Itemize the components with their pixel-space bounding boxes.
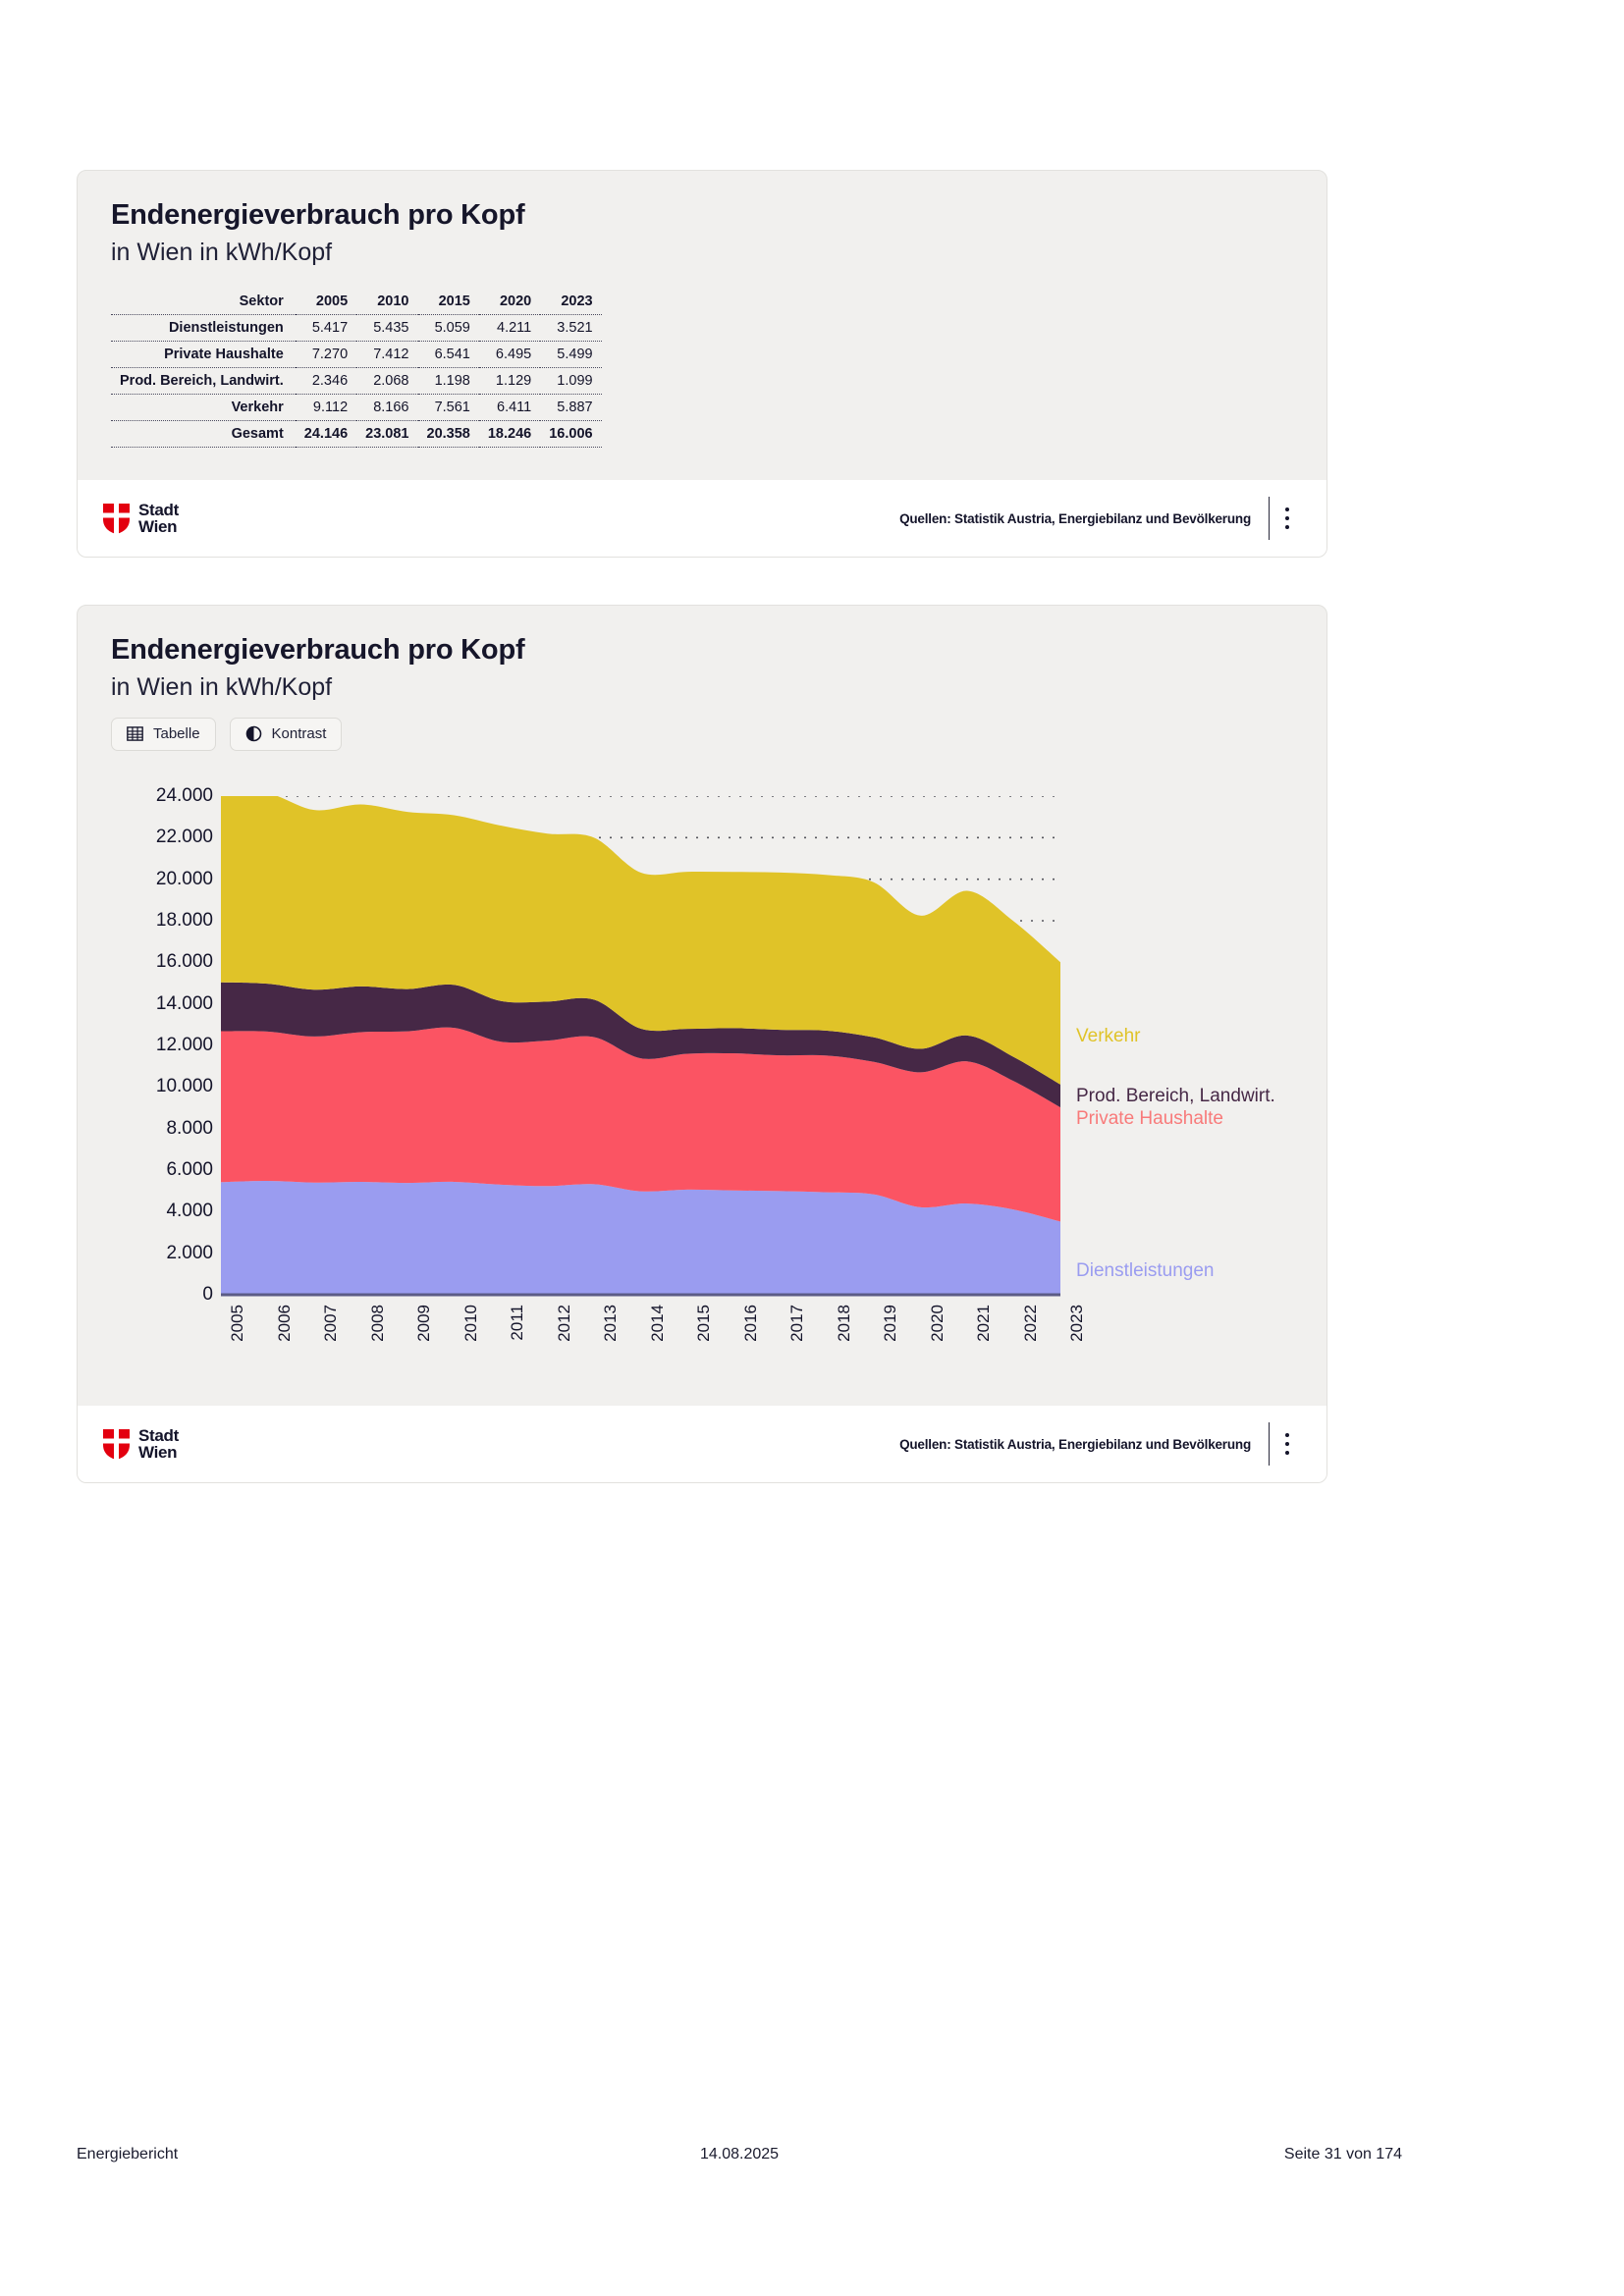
data-table-wrapper: Sektor 2005 2010 2015 2020 2023 Dienstle…: [111, 289, 1293, 448]
row-label-gesamt: Gesamt: [111, 420, 296, 447]
table-head: Sektor 2005 2010 2015 2020 2023: [111, 289, 602, 315]
kebab-dot: [1285, 525, 1289, 529]
tabelle-button-label: Tabelle: [153, 725, 200, 742]
x-axis-tick: 2011: [508, 1305, 527, 1341]
cell-private-haushalte-2010: 7.412: [356, 341, 417, 367]
stadt-wien-logo: Stadt Wien: [103, 1427, 179, 1461]
kebab-dot: [1285, 1433, 1289, 1437]
logo-line-wien: Wien: [138, 1444, 179, 1461]
x-axis-tick: 2008: [368, 1305, 388, 1342]
y-axis-tick: 14.000: [111, 993, 213, 1015]
stadt-wien-logo-text: Stadt Wien: [138, 502, 179, 535]
y-axis-tick: 6.000: [111, 1159, 213, 1181]
y-axis-tick: 22.000: [111, 827, 213, 848]
x-axis-tick: 2021: [974, 1305, 994, 1342]
y-axis-tick: 0: [111, 1284, 213, 1306]
x-axis-tick: 2019: [881, 1305, 900, 1342]
chart-card-title: Endenergieverbrauch pro Kopf: [111, 635, 1293, 665]
y-axis-labels: 02.0004.0006.0008.00010.00012.00014.0001…: [111, 796, 213, 1297]
stadt-wien-logo: Stadt Wien: [103, 502, 179, 535]
table-total-row: Gesamt 24.146 23.081 20.358 18.246 16.00…: [111, 420, 602, 447]
chart-controls: Tabelle Kontrast: [111, 718, 1293, 751]
more-options-icon[interactable]: [1270, 497, 1305, 540]
y-axis-tick: 18.000: [111, 910, 213, 932]
cell-prod-bereich-2023: 1.099: [540, 367, 601, 394]
x-axis-tick: 2018: [835, 1305, 854, 1342]
chart-card-subtitle: in Wien in kWh/Kopf: [111, 674, 1293, 702]
page-footer-pagenum: Seite 31 von 174: [965, 2146, 1403, 2163]
logo-line-wien: Wien: [138, 518, 179, 535]
legend-item-prod-bereich: Prod. Bereich, Landwirt.: [1076, 1086, 1275, 1107]
y-axis-tick: 24.000: [111, 785, 213, 807]
x-axis-tick: 2012: [555, 1305, 574, 1342]
y-axis-tick: 4.000: [111, 1201, 213, 1222]
chart-plot-area: [221, 796, 1060, 1297]
table-card: Endenergieverbrauch pro Kopf in Wien in …: [77, 170, 1327, 558]
y-axis-tick: 8.000: [111, 1118, 213, 1140]
chart-legend: Verkehr Prod. Bereich, Landwirt. Private…: [1068, 796, 1294, 1297]
cell-prod-bereich-2005: 2.346: [296, 367, 356, 394]
x-axis-tick: 2020: [928, 1305, 947, 1342]
table-row: Private Haushalte 7.270 7.412 6.541 6.49…: [111, 341, 602, 367]
y-axis-tick: 20.000: [111, 869, 213, 890]
table-row: Verkehr 9.112 8.166 7.561 6.411 5.887: [111, 394, 602, 420]
x-axis-tick: 2007: [321, 1305, 341, 1342]
table-row: Prod. Bereich, Landwirt. 2.346 2.068 1.1…: [111, 367, 602, 394]
cell-gesamt-2020: 18.246: [479, 420, 540, 447]
cell-dienstleistungen-2010: 5.435: [356, 314, 417, 341]
table-col-2005: 2005: [296, 289, 356, 315]
shield-icon: [103, 1429, 130, 1460]
cell-private-haushalte-2005: 7.270: [296, 341, 356, 367]
cell-prod-bereich-2020: 1.129: [479, 367, 540, 394]
kontrast-button[interactable]: Kontrast: [230, 718, 343, 751]
table-card-title: Endenergieverbrauch pro Kopf: [111, 200, 1293, 230]
table-col-2010: 2010: [356, 289, 417, 315]
x-axis-tick: 2014: [648, 1305, 668, 1342]
row-label-prod-bereich: Prod. Bereich, Landwirt.: [111, 367, 296, 394]
table-col-2020: 2020: [479, 289, 540, 315]
page: Endenergieverbrauch pro Kopf in Wien in …: [0, 0, 1624, 2296]
more-options-icon[interactable]: [1270, 1422, 1305, 1466]
kebab-dot: [1285, 1451, 1289, 1455]
cell-private-haushalte-2023: 5.499: [540, 341, 601, 367]
cell-dienstleistungen-2015: 5.059: [418, 314, 479, 341]
chart-svg: [221, 796, 1060, 1297]
cell-dienstleistungen-2020: 4.211: [479, 314, 540, 341]
y-axis-tick: 12.000: [111, 1035, 213, 1056]
y-axis-tick: 16.000: [111, 951, 213, 973]
legend-item-private-haushalte: Private Haushalte: [1076, 1108, 1223, 1130]
table-col-sektor: Sektor: [111, 289, 296, 315]
legend-item-verkehr: Verkehr: [1076, 1026, 1140, 1047]
x-axis-tick: 2013: [601, 1305, 621, 1342]
cell-private-haushalte-2015: 6.541: [418, 341, 479, 367]
chart-card-body: Endenergieverbrauch pro Kopf in Wien in …: [78, 606, 1326, 751]
cell-private-haushalte-2020: 6.495: [479, 341, 540, 367]
row-label-dienstleistungen: Dienstleistungen: [111, 314, 296, 341]
table-row: Dienstleistungen 5.417 5.435 5.059 4.211…: [111, 314, 602, 341]
cell-verkehr-2015: 7.561: [418, 394, 479, 420]
page-footer-date: 14.08.2025: [514, 2146, 965, 2163]
cell-prod-bereich-2015: 1.198: [418, 367, 479, 394]
kebab-dot: [1285, 507, 1289, 511]
table-card-body: Endenergieverbrauch pro Kopf in Wien in …: [78, 171, 1326, 448]
x-axis-tick: 2017: [787, 1305, 807, 1342]
table-col-2015: 2015: [418, 289, 479, 315]
cell-verkehr-2020: 6.411: [479, 394, 540, 420]
x-axis-tick: 2015: [694, 1305, 714, 1342]
contrast-icon: [245, 725, 262, 742]
table-card-subtitle: in Wien in kWh/Kopf: [111, 240, 1293, 267]
source-note: Quellen: Statistik Austria, Energiebilan…: [899, 511, 1269, 526]
table-header-row: Sektor 2005 2010 2015 2020 2023: [111, 289, 602, 315]
x-axis-tick: 2022: [1021, 1305, 1041, 1342]
shield-icon: [103, 504, 130, 534]
kebab-dot: [1285, 516, 1289, 520]
kontrast-button-label: Kontrast: [272, 725, 327, 742]
x-axis-tick: 2023: [1067, 1305, 1087, 1342]
legend-item-dienstleistungen: Dienstleistungen: [1076, 1260, 1214, 1282]
x-axis-tick: 2016: [741, 1305, 761, 1342]
source-note: Quellen: Statistik Austria, Energiebilan…: [899, 1437, 1269, 1452]
stacked-area-chart: 02.0004.0006.0008.00010.00012.00014.0001…: [111, 782, 1295, 1371]
x-axis-tick: 2009: [414, 1305, 434, 1342]
table-col-2023: 2023: [540, 289, 601, 315]
page-footer: Energiebericht 14.08.2025 Seite 31 von 1…: [77, 2146, 1402, 2163]
energy-data-table: Sektor 2005 2010 2015 2020 2023 Dienstle…: [111, 289, 602, 448]
cell-gesamt-2005: 24.146: [296, 420, 356, 447]
row-label-private-haushalte: Private Haushalte: [111, 341, 296, 367]
cell-gesamt-2015: 20.358: [418, 420, 479, 447]
stadt-wien-logo-text: Stadt Wien: [138, 1427, 179, 1461]
x-axis-tick: 2010: [461, 1305, 481, 1342]
table-card-footer: Stadt Wien Quellen: Statistik Austria, E…: [78, 480, 1326, 557]
cell-prod-bereich-2010: 2.068: [356, 367, 417, 394]
cell-gesamt-2023: 16.006: [540, 420, 601, 447]
cell-dienstleistungen-2023: 3.521: [540, 314, 601, 341]
cell-dienstleistungen-2005: 5.417: [296, 314, 356, 341]
table-body: Dienstleistungen 5.417 5.435 5.059 4.211…: [111, 314, 602, 447]
logo-line-stadt: Stadt: [138, 1427, 179, 1444]
chart-card-footer: Stadt Wien Quellen: Statistik Austria, E…: [78, 1406, 1326, 1482]
area-series: [221, 796, 1060, 1295]
cell-gesamt-2010: 23.081: [356, 420, 417, 447]
cell-verkehr-2010: 8.166: [356, 394, 417, 420]
table-icon: [127, 725, 143, 742]
kebab-dot: [1285, 1442, 1289, 1446]
cell-verkehr-2005: 9.112: [296, 394, 356, 420]
y-axis-tick: 10.000: [111, 1076, 213, 1097]
x-axis-labels: 2005200620072008200920102011201220132014…: [221, 1305, 1060, 1373]
y-axis-tick: 2.000: [111, 1243, 213, 1264]
x-axis-tick: 2005: [228, 1305, 247, 1342]
tabelle-button[interactable]: Tabelle: [111, 718, 216, 751]
logo-line-stadt: Stadt: [138, 502, 179, 518]
x-axis-tick: 2006: [275, 1305, 295, 1342]
row-label-verkehr: Verkehr: [111, 394, 296, 420]
chart-card: Endenergieverbrauch pro Kopf in Wien in …: [77, 605, 1327, 1483]
cell-verkehr-2023: 5.887: [540, 394, 601, 420]
page-footer-document-name: Energiebericht: [77, 2146, 514, 2163]
